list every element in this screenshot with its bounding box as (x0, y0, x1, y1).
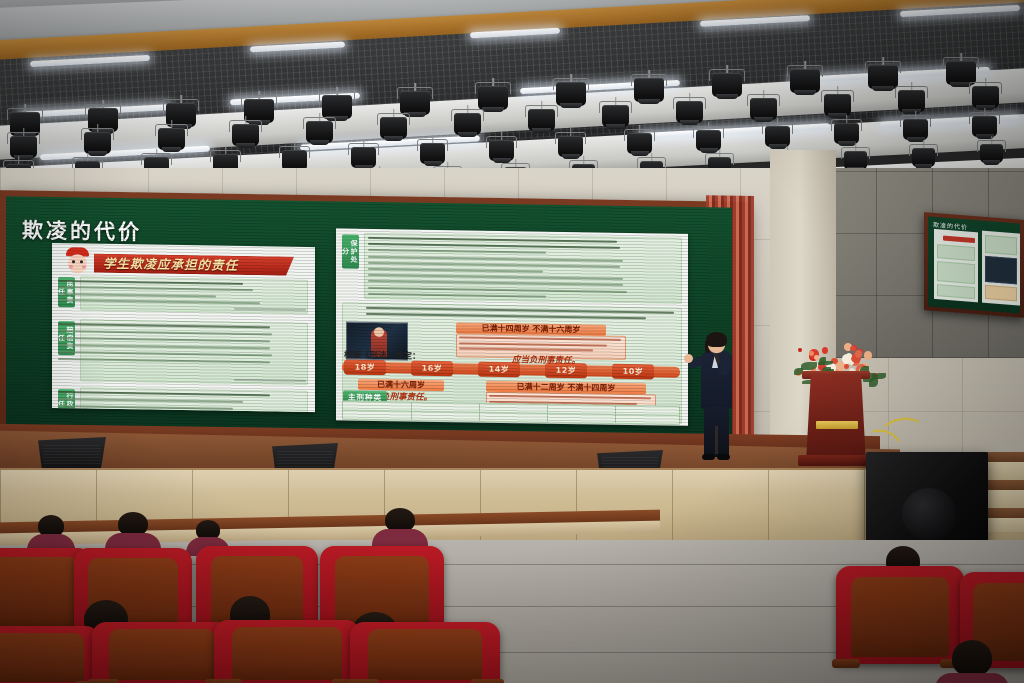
stage-monitor-1 (38, 437, 106, 471)
stage-light-icon (824, 86, 851, 118)
auditorium-seat (350, 622, 500, 683)
stage-light-icon (750, 90, 777, 122)
led-screen-frame: 欺凌的代价 学生欺凌应承担的责任 民事责任赔偿责任行政责任 保护处分 刑事责任根… (0, 190, 748, 447)
auditorium-seat (214, 620, 360, 683)
stage-light-icon (454, 105, 481, 137)
auditorium-seat (92, 622, 232, 683)
presenter (694, 334, 740, 464)
auditorium-scene: 欺凌的代价 学生欺凌应承担的责任 民事责任赔偿责任行政责任 保护处分 刑事责任根… (0, 0, 1024, 683)
podium-nameplate (816, 421, 858, 429)
stage-light-icon (232, 116, 259, 148)
stage-light-icon (602, 97, 629, 129)
side-monitor-screen: 欺凌的代价 (928, 216, 1020, 313)
stage-light-icon (972, 78, 999, 110)
slide-title: 欺凌的代价 (22, 214, 142, 246)
slide-banner: 学生欺凌应承担的责任 (94, 254, 294, 276)
flower (843, 359, 848, 364)
stage-light-icon (765, 118, 790, 149)
stage-light-icon (84, 124, 111, 156)
stage-light-icon (528, 101, 555, 133)
stage-light-icon (868, 57, 898, 91)
presenter-hair (706, 332, 727, 347)
flower (814, 355, 819, 360)
speaker-cone (902, 488, 956, 540)
stage-light-icon (898, 82, 925, 114)
side-monitor-card-right (982, 231, 1020, 306)
stage-light-icon (158, 120, 185, 152)
presenter-shoe-right (717, 454, 730, 460)
slide-card-left: 学生欺凌应承担的责任 民事责任赔偿责任行政责任 (52, 243, 315, 412)
presenter-shoe-left (702, 454, 715, 460)
age-marker: 18岁 (344, 360, 386, 376)
age-marker: 10岁 (612, 364, 654, 380)
stage-light-icon (478, 78, 508, 112)
stage-light-icon (712, 65, 742, 99)
presenter-left-hand (684, 354, 693, 363)
age-marker: 16岁 (411, 361, 453, 377)
stage-light-icon (912, 140, 935, 169)
flower (864, 351, 872, 359)
stage-light-icon (834, 115, 859, 146)
police-mascot-icon (64, 247, 91, 275)
stage-light-icon (790, 61, 820, 95)
stage-light-icon (627, 125, 652, 156)
education-section: 保护处分 (336, 228, 688, 234)
left-slide-sections: 民事责任赔偿责任行政责任 (52, 243, 315, 247)
foliage (801, 362, 817, 370)
podium-base (798, 455, 874, 466)
flower (822, 347, 828, 353)
stage-light-icon (903, 111, 928, 142)
presenter-leg-gap (715, 426, 718, 454)
auditorium-seat (0, 626, 100, 683)
section-tag-protection: 保护处分 (342, 234, 359, 268)
penalty-table (342, 400, 680, 424)
stage-light-icon (556, 74, 586, 108)
stage-light-icon (634, 70, 664, 104)
stage-light-icon (696, 122, 721, 153)
podium (806, 375, 866, 463)
stage-light-icon (380, 109, 407, 141)
age-callout-conclusion: 应当负刑事责任。 (512, 353, 580, 366)
side-monitor-card-left (934, 229, 978, 302)
text-line (58, 411, 212, 412)
side-wall-monitor: 欺凌的代价 (924, 212, 1024, 318)
shoulders (935, 673, 1009, 683)
flower (798, 348, 802, 352)
stage-light-icon (980, 136, 1003, 165)
flower (855, 350, 863, 358)
head (952, 640, 992, 676)
led-screen: 欺凌的代价 学生欺凌应承担的责任 民事责任赔偿责任行政责任 保护处分 刑事责任根… (6, 196, 732, 435)
stage-light-icon (306, 113, 333, 145)
stage-light-icon (558, 128, 583, 159)
slide-card-right: 保护处分 刑事责任根据《刑法》规定：18岁16岁14岁12岁10岁已满十四周岁 … (336, 228, 688, 426)
flower (844, 364, 849, 369)
stage-light-icon (972, 108, 997, 139)
auditorium-seat (836, 566, 964, 664)
